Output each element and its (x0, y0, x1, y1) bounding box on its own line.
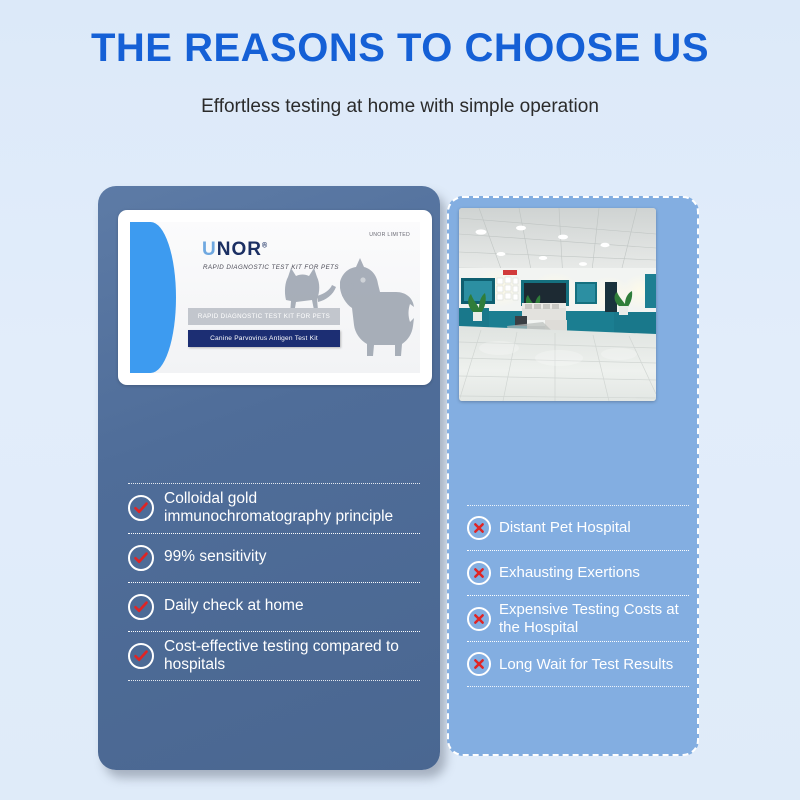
cons-list-item: Exhausting Exertions (467, 550, 689, 596)
cons-list-item: Distant Pet Hospital (467, 505, 689, 551)
check-icon (128, 545, 154, 571)
product-box-card: UNOR LIMITED UNOR® RAPID DIAGNOSTIC TEST… (118, 210, 432, 385)
product-box: UNOR LIMITED UNOR® RAPID DIAGNOSTIC TEST… (130, 222, 420, 373)
box-corporate-label: UNOR LIMITED (369, 232, 410, 238)
page-header: THE REASONS TO CHOOSE US Effortless test… (0, 0, 800, 118)
registered-mark-icon: ® (262, 243, 268, 250)
cons-list-item: Long Wait for Test Results (467, 641, 689, 687)
pros-list-item: Daily check at home (128, 582, 420, 632)
pros-list-item: 99% sensitivity (128, 533, 420, 583)
page-subtitle: Effortless testing at home with simple o… (0, 96, 800, 118)
cons-list-item-label: Exhausting Exertions (499, 564, 640, 582)
cross-icon (467, 561, 491, 585)
pros-list-item: Colloidal gold immunochromatography prin… (128, 483, 420, 534)
pros-list-item-label: Cost-effective testing compared to hospi… (164, 638, 420, 675)
cons-list-item-label: Distant Pet Hospital (499, 519, 631, 537)
pros-list-item-label: Colloidal gold immunochromatography prin… (164, 490, 420, 527)
cons-panel: Distant Pet Hospital Exhausting Exertion… (447, 196, 699, 756)
cross-icon (467, 607, 491, 631)
cross-icon (467, 516, 491, 540)
pros-list: Colloidal gold immunochromatography prin… (128, 484, 420, 681)
cons-list-item-label: Expensive Testing Costs at the Hospital (499, 601, 689, 636)
check-icon (128, 643, 154, 669)
page-title: THE REASONS TO CHOOSE US (0, 26, 800, 70)
check-icon (128, 495, 154, 521)
cons-list-item-label: Long Wait for Test Results (499, 656, 673, 674)
box-navy-banner: Canine Parvovirus Antigen Test Kit (188, 330, 340, 347)
check-icon (128, 594, 154, 620)
brand-logo-u: U (202, 239, 217, 260)
pet-hospital-lobby-photo (459, 208, 656, 401)
pros-list-item: Cost-effective testing compared to hospi… (128, 631, 420, 682)
brand-logo-nor: NOR (217, 239, 262, 260)
brand-logo: UNOR® (202, 240, 268, 259)
cons-list-item: Expensive Testing Costs at the Hospital (467, 595, 689, 642)
comparison-panels: UNOR LIMITED UNOR® RAPID DIAGNOSTIC TEST… (0, 186, 800, 786)
pros-panel: UNOR LIMITED UNOR® RAPID DIAGNOSTIC TEST… (98, 186, 440, 770)
cons-list: Distant Pet Hospital Exhausting Exertion… (467, 506, 689, 687)
cross-icon (467, 652, 491, 676)
box-spine-accent (130, 222, 176, 373)
pros-list-item-label: 99% sensitivity (164, 548, 267, 566)
pros-list-item-label: Daily check at home (164, 597, 304, 615)
box-gray-banner: RAPID DIAGNOSTIC TEST KIT FOR PETS (188, 308, 340, 325)
